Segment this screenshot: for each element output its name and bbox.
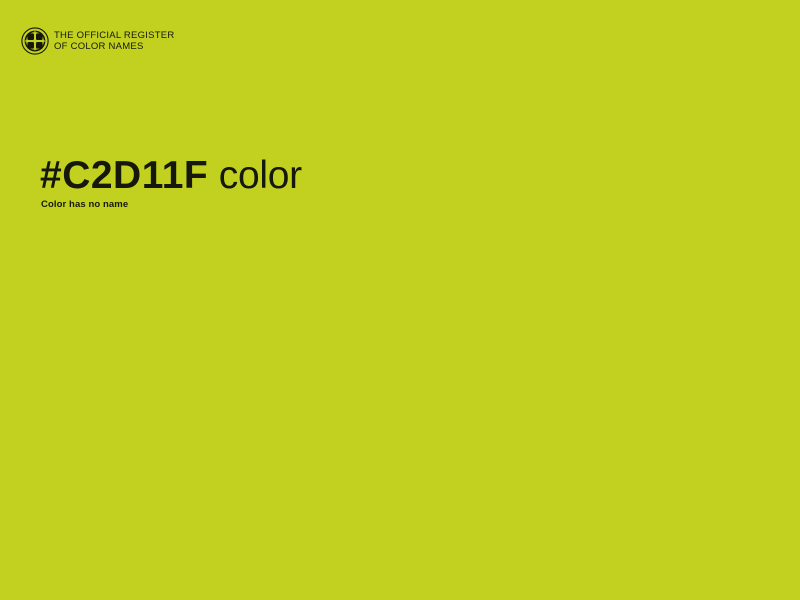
color-heading-suffix: color [208,154,302,197]
page-title: #C2D11F color [40,153,302,199]
color-name-status: Color has no name [41,199,128,211]
register-seal-icon [21,27,49,55]
brand-line-2: OF COLOR NAMES [54,42,175,53]
brand-line-1: THE OFFICIAL REGISTER [54,31,175,42]
color-hex-code: #C2D11F [40,154,208,197]
color-swatch-background [0,0,800,600]
site-brand-text: THE OFFICIAL REGISTER OF COLOR NAMES [54,31,175,52]
color-detail-page: THE OFFICIAL REGISTER OF COLOR NAMES #C2… [0,0,800,600]
site-brand-lockup[interactable]: THE OFFICIAL REGISTER OF COLOR NAMES [21,27,175,55]
